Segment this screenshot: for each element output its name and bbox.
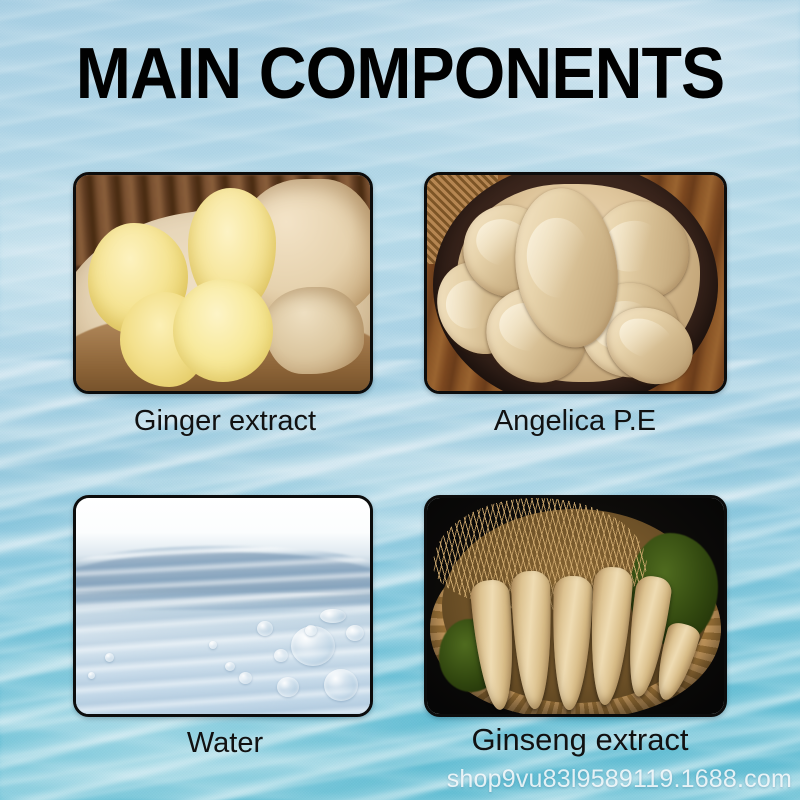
ginger-photo-frame — [73, 172, 373, 394]
caption-ginseng: Ginseng extract — [400, 722, 760, 758]
ginger-root-knob — [264, 287, 364, 373]
component-card-ginseng[interactable] — [424, 495, 727, 717]
caption-ginger: Ginger extract — [40, 405, 410, 438]
ginger-photo — [76, 175, 370, 391]
ginseng-photo-frame — [424, 495, 727, 717]
component-card-angelica[interactable] — [424, 172, 727, 394]
angelica-photo-frame — [424, 172, 727, 394]
component-card-ginger[interactable] — [73, 172, 373, 394]
caption-water: Water — [40, 727, 410, 760]
water-bubble — [346, 625, 364, 641]
angelica-photo — [427, 175, 724, 391]
caption-angelica: Angelica P.E — [420, 405, 730, 438]
water-bubble — [274, 649, 288, 662]
water-photo — [76, 498, 370, 714]
components-grid: Ginger extract Angelica P.E — [0, 0, 800, 800]
component-card-water[interactable] — [73, 495, 373, 717]
water-photo-frame — [73, 495, 373, 717]
ginseng-photo — [427, 498, 724, 714]
watermark-url: shop9vu83l9589119.1688.com — [447, 765, 792, 794]
poster-canvas: MAIN COMPONENTS Ginger extract — [0, 0, 800, 800]
ginger-slice-d — [173, 279, 273, 383]
water-bubble — [225, 662, 235, 671]
